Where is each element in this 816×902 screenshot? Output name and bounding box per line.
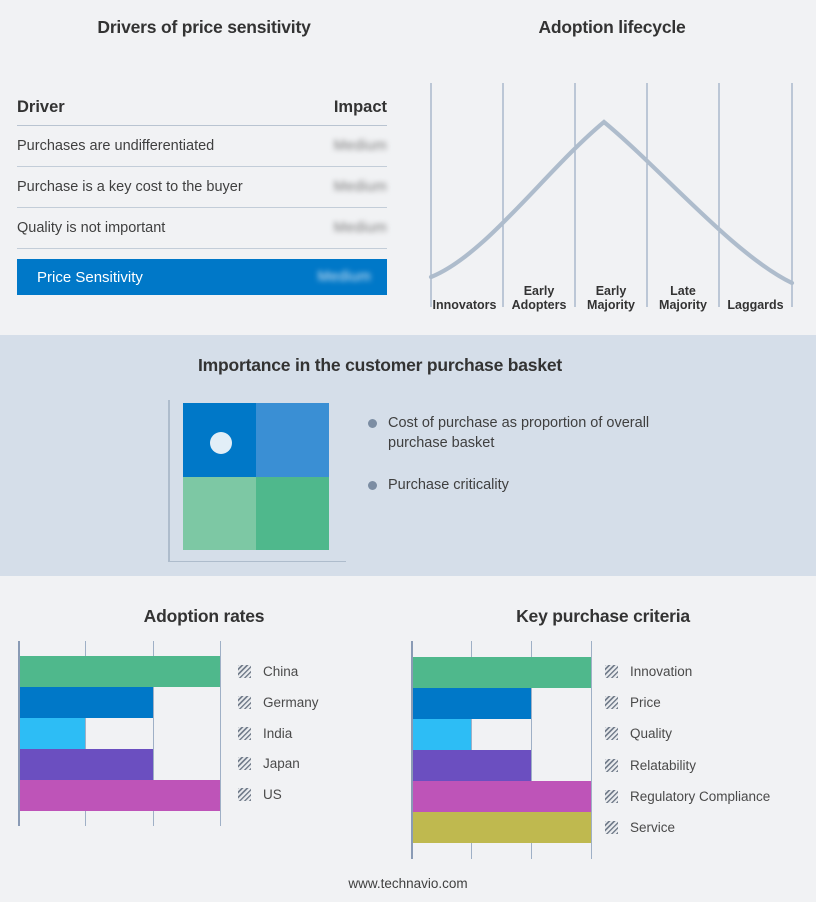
hatch-swatch-icon bbox=[238, 696, 251, 709]
legend-label: India bbox=[263, 726, 292, 741]
bottom-band: Adoption rates ChinaGermanyIndiaJapanUS … bbox=[0, 576, 816, 902]
matrix-x-axis bbox=[168, 561, 346, 563]
quadrant-bottom-left bbox=[183, 477, 256, 551]
hatch-swatch-icon bbox=[238, 788, 251, 801]
stage-label-early-adopters: Early Adopters bbox=[503, 284, 575, 312]
hatch-swatch-icon bbox=[605, 727, 618, 740]
key-purchase-criteria-legend: InnovationPriceQualityRelatabilityRegula… bbox=[605, 641, 815, 859]
legend-label: Price bbox=[630, 695, 661, 710]
hatch-swatch-icon bbox=[605, 759, 618, 772]
key-purchase-criteria-title: Key purchase criteria bbox=[390, 606, 816, 627]
bar bbox=[20, 656, 220, 687]
stage-label-innovators: Innovators bbox=[426, 298, 503, 312]
chart-gridline bbox=[220, 641, 221, 826]
lifecycle-curve-svg bbox=[426, 75, 798, 315]
legend-label: Purchase criticality bbox=[388, 475, 509, 495]
bar bbox=[413, 812, 591, 843]
bar bbox=[413, 719, 471, 750]
legend-label: Cost of purchase as proportion of overal… bbox=[388, 413, 650, 453]
hatch-swatch-icon bbox=[238, 727, 251, 740]
driver-label: Purchase is a key cost to the buyer bbox=[17, 179, 243, 195]
purchase-basket-title: Importance in the customer purchase bask… bbox=[0, 355, 760, 376]
bar bbox=[413, 688, 531, 719]
legend-item: Germany bbox=[238, 695, 319, 710]
footer-url: www.technavio.com bbox=[0, 876, 816, 891]
legend-item: India bbox=[238, 726, 292, 741]
driver-label: Purchases are undifferentiated bbox=[17, 138, 214, 154]
bar bbox=[20, 687, 153, 718]
legend-label: Relatability bbox=[630, 758, 696, 773]
legend-item: China bbox=[238, 664, 298, 679]
legend-item: Service bbox=[605, 820, 675, 835]
adoption-rates-panel: Adoption rates ChinaGermanyIndiaJapanUS bbox=[0, 576, 408, 902]
impact-value: Medium bbox=[317, 179, 387, 195]
adoption-bell-curve bbox=[431, 122, 792, 283]
quadrant-bottom-right bbox=[256, 477, 329, 551]
bar bbox=[413, 781, 591, 812]
matrix-position-marker bbox=[210, 432, 232, 454]
key-purchase-criteria-panel: Key purchase criteria InnovationPriceQua… bbox=[390, 576, 816, 902]
adoption-rates-title: Adoption rates bbox=[0, 606, 408, 627]
adoption-rates-legend: ChinaGermanyIndiaJapanUS bbox=[238, 641, 398, 826]
legend-label: US bbox=[263, 787, 282, 802]
legend-item: US bbox=[238, 787, 282, 802]
table-header-row: Driver Impact bbox=[17, 90, 387, 126]
stage-label-late-majority: Late Majority bbox=[647, 284, 719, 312]
summary-impact-value: Medium bbox=[301, 269, 371, 285]
legend-item: Quality bbox=[605, 726, 672, 741]
matrix-quadrants bbox=[183, 403, 329, 550]
table-row: Purchases are undifferentiated Medium bbox=[17, 126, 387, 167]
legend-item: Price bbox=[605, 695, 661, 710]
impact-value: Medium bbox=[317, 220, 387, 236]
stage-label-laggards: Laggards bbox=[719, 298, 792, 312]
bar bbox=[20, 749, 153, 780]
driver-label: Quality is not important bbox=[17, 220, 165, 236]
stage-label-early-majority: Early Majority bbox=[575, 284, 647, 312]
hatch-swatch-icon bbox=[605, 665, 618, 678]
legend-item: Purchase criticality bbox=[368, 475, 668, 495]
drivers-title: Drivers of price sensitivity bbox=[0, 17, 408, 38]
column-header-impact: Impact bbox=[317, 98, 387, 117]
legend-label: Innovation bbox=[630, 664, 692, 679]
legend-label: Regulatory Compliance bbox=[630, 789, 770, 804]
hatch-swatch-icon bbox=[605, 821, 618, 834]
bar bbox=[20, 718, 85, 749]
hatch-swatch-icon bbox=[605, 696, 618, 709]
hatch-swatch-icon bbox=[238, 665, 251, 678]
purchase-basket-panel: Importance in the customer purchase bask… bbox=[0, 335, 816, 576]
summary-label: Price Sensitivity bbox=[37, 269, 143, 286]
bar bbox=[413, 750, 531, 781]
price-sensitivity-summary-row: Price Sensitivity Medium bbox=[17, 259, 387, 295]
purchase-basket-legend: Cost of purchase as proportion of overal… bbox=[368, 413, 668, 517]
column-header-driver: Driver bbox=[17, 98, 65, 117]
legend-item: Innovation bbox=[605, 664, 692, 679]
table-row: Purchase is a key cost to the buyer Medi… bbox=[17, 167, 387, 208]
lifecycle-panel: Adoption lifecycle Innovators Early Adop… bbox=[408, 0, 816, 335]
table-row: Quality is not important Medium bbox=[17, 208, 387, 249]
impact-value: Medium bbox=[317, 138, 387, 154]
bullet-icon bbox=[368, 419, 377, 428]
matrix-y-axis bbox=[168, 400, 170, 562]
legend-item: Cost of purchase as proportion of overal… bbox=[368, 413, 668, 453]
lifecycle-title: Adoption lifecycle bbox=[408, 17, 816, 38]
drivers-panel: Drivers of price sensitivity Driver Impa… bbox=[0, 0, 408, 335]
drivers-table: Driver Impact Purchases are undifferenti… bbox=[17, 90, 387, 295]
legend-label: Service bbox=[630, 820, 675, 835]
legend-label: Germany bbox=[263, 695, 319, 710]
top-band: Drivers of price sensitivity Driver Impa… bbox=[0, 0, 816, 335]
legend-label: Quality bbox=[630, 726, 672, 741]
quadrant-top-right bbox=[256, 403, 329, 477]
hatch-swatch-icon bbox=[605, 790, 618, 803]
chart-gridline bbox=[591, 641, 592, 859]
bar bbox=[413, 657, 591, 688]
legend-item: Regulatory Compliance bbox=[605, 789, 770, 804]
hatch-swatch-icon bbox=[238, 757, 251, 770]
legend-item: Relatability bbox=[605, 758, 696, 773]
lifecycle-chart: Innovators Early Adopters Early Majority… bbox=[426, 75, 798, 315]
purchase-basket-matrix bbox=[168, 400, 348, 570]
bullet-icon bbox=[368, 481, 377, 490]
legend-label: China bbox=[263, 664, 298, 679]
key-purchase-criteria-chart bbox=[411, 641, 591, 859]
bar bbox=[20, 780, 220, 811]
legend-item: Japan bbox=[238, 756, 300, 771]
adoption-rates-chart bbox=[18, 641, 220, 826]
legend-label: Japan bbox=[263, 756, 300, 771]
